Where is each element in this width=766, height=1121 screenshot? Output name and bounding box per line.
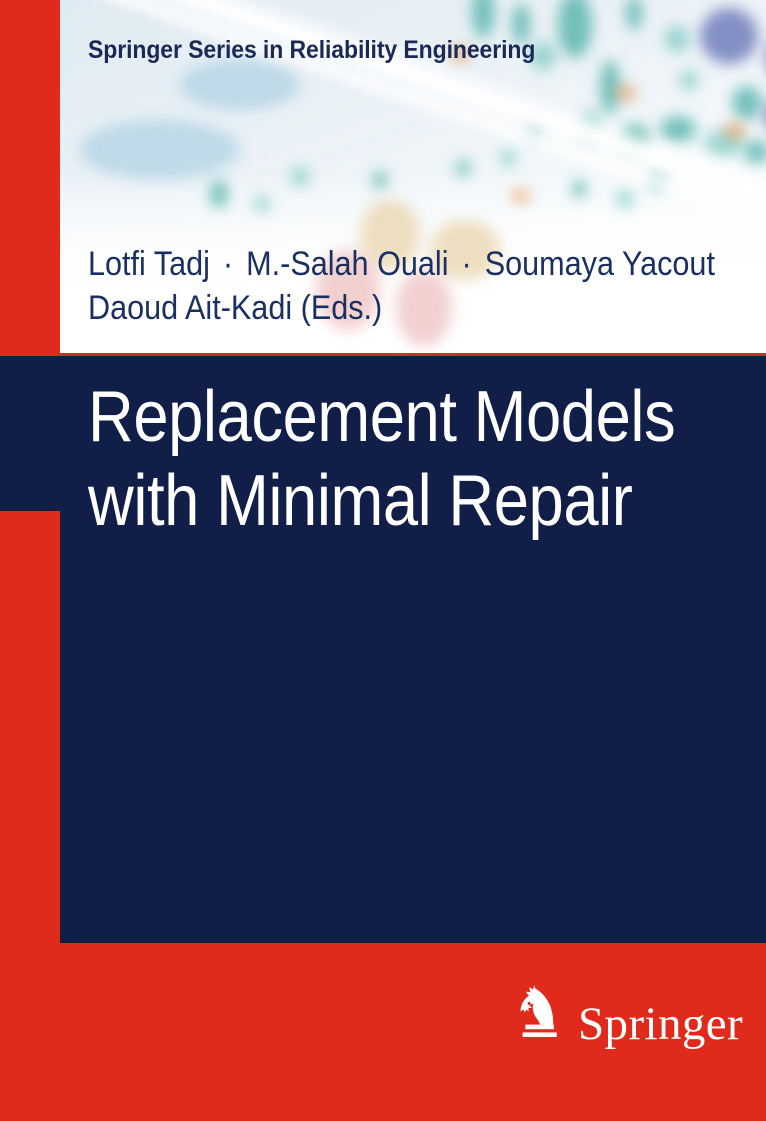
artwork-blob [724,124,746,138]
book-cover: Springer Series in Reliability Engineeri… [0,0,766,1121]
artwork-blob [512,190,530,202]
artwork-blob [180,60,300,110]
artwork-blob [290,168,310,186]
artwork-blob [744,140,766,164]
author-list: Lotfi Tadj · M.-Salah Ouali · Soumaya Ya… [88,243,682,330]
springer-knight-icon [513,982,567,1044]
springer-logo: Springer [513,982,743,1044]
artwork-blob [372,172,388,188]
author-line-1: Lotfi Tadj · M.-Salah Ouali · Soumaya Ya… [88,243,682,287]
author-name: Lotfi Tadj [88,245,210,283]
artwork-blob [700,8,758,64]
navy-side-tab [0,356,62,511]
author-separator: · [218,245,237,283]
artwork-blob [254,196,270,212]
author-line-2: Daoud Ait-Kadi (Eds.) [88,287,682,331]
springer-wordmark: Springer [578,1002,743,1047]
artwork-blob [664,26,690,52]
artwork-blob [456,160,470,176]
artwork-blob [616,190,634,208]
book-title-line-1: Replacement Models [88,376,651,460]
artwork-blob [210,180,228,208]
author-name: Soumaya Yacout [485,245,715,283]
artwork-blob [600,60,620,114]
book-title: Replacement Models with Minimal Repair [88,376,651,543]
artwork-blob [80,120,240,180]
artwork-blob [732,86,762,120]
series-title: Springer Series in Reliability Engineeri… [88,36,535,65]
book-title-line-2: with Minimal Repair [88,460,651,544]
artwork-blob [500,150,516,166]
artwork-blob [680,70,698,90]
artwork-blob [572,180,586,198]
artwork-blob [616,86,636,100]
author-separator: · [457,245,476,283]
author-name: M.-Salah Ouali [246,245,448,283]
